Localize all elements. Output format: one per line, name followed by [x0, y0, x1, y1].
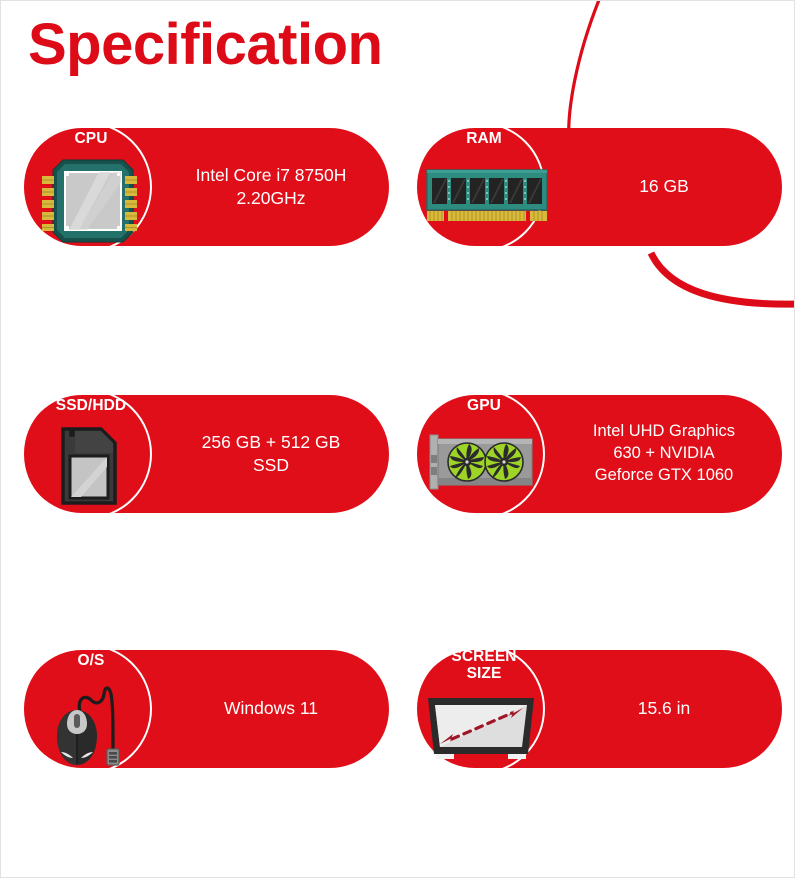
arc-thick-bottom — [651, 253, 795, 304]
spec-value-storage: 256 GB + 512 GB SSD — [153, 395, 389, 513]
spec-value-cpu-line1: Intel Core i7 8750H — [196, 165, 347, 185]
computer-mouse-icon — [47, 670, 135, 770]
spec-label-storage: SSD/HDD — [35, 397, 147, 414]
specification-infographic: Specification Intel Core i7 8750H 2.20GH… — [0, 0, 795, 878]
spec-value-gpu: Intel UHD Graphics 630 + NVIDIA Geforce … — [546, 395, 782, 513]
spec-value-gpu-line1: Intel UHD Graphics — [593, 422, 735, 440]
spec-label-gpu: GPU — [428, 397, 540, 414]
memory-card-icon — [57, 423, 121, 509]
spec-value-cpu-line2: 2.20GHz — [236, 188, 305, 208]
cpu-chip-icon — [39, 156, 137, 246]
spec-value-screen-size: 15.6 in — [546, 650, 782, 768]
spec-card-os[interactable]: Windows 11 O/S — [23, 650, 389, 768]
spec-card-ram[interactable]: 16 GB RAM — [416, 128, 782, 246]
spec-label-ram: RAM — [428, 130, 540, 147]
spec-card-screen-size[interactable]: 15.6 in SCREEN SIZE — [416, 650, 782, 768]
spec-value-ram: 16 GB — [546, 128, 782, 246]
graphics-card-icon — [428, 433, 536, 495]
spec-value-storage-line2: SSD — [253, 455, 289, 475]
spec-card-storage[interactable]: 256 GB + 512 GB SSD SSD/HDD — [23, 395, 389, 513]
spec-label-screen-size-line1: SCREEN — [451, 648, 516, 665]
spec-card-gpu[interactable]: Intel UHD Graphics 630 + NVIDIA Geforce … — [416, 395, 782, 513]
spec-value-gpu-line2: 630 + NVIDIA — [613, 444, 714, 462]
spec-label-screen-size: SCREEN SIZE — [428, 648, 540, 683]
monitor-diagonal-icon — [422, 694, 540, 764]
spec-card-cpu[interactable]: Intel Core i7 8750H 2.20GHz CPU — [23, 128, 389, 246]
spec-value-storage-line1: 256 GB + 512 GB — [202, 432, 341, 452]
arc-thin-top — [569, 1, 601, 141]
spec-value-cpu: Intel Core i7 8750H 2.20GHz — [153, 128, 389, 246]
spec-value-os: Windows 11 — [153, 650, 389, 768]
spec-label-screen-size-line2: SIZE — [467, 665, 502, 682]
page-title: Specification — [28, 13, 382, 77]
spec-value-gpu-line3: Geforce GTX 1060 — [595, 466, 734, 484]
memory-module-icon — [426, 168, 548, 226]
spec-label-cpu: CPU — [35, 130, 147, 147]
spec-label-os: O/S — [35, 652, 147, 669]
